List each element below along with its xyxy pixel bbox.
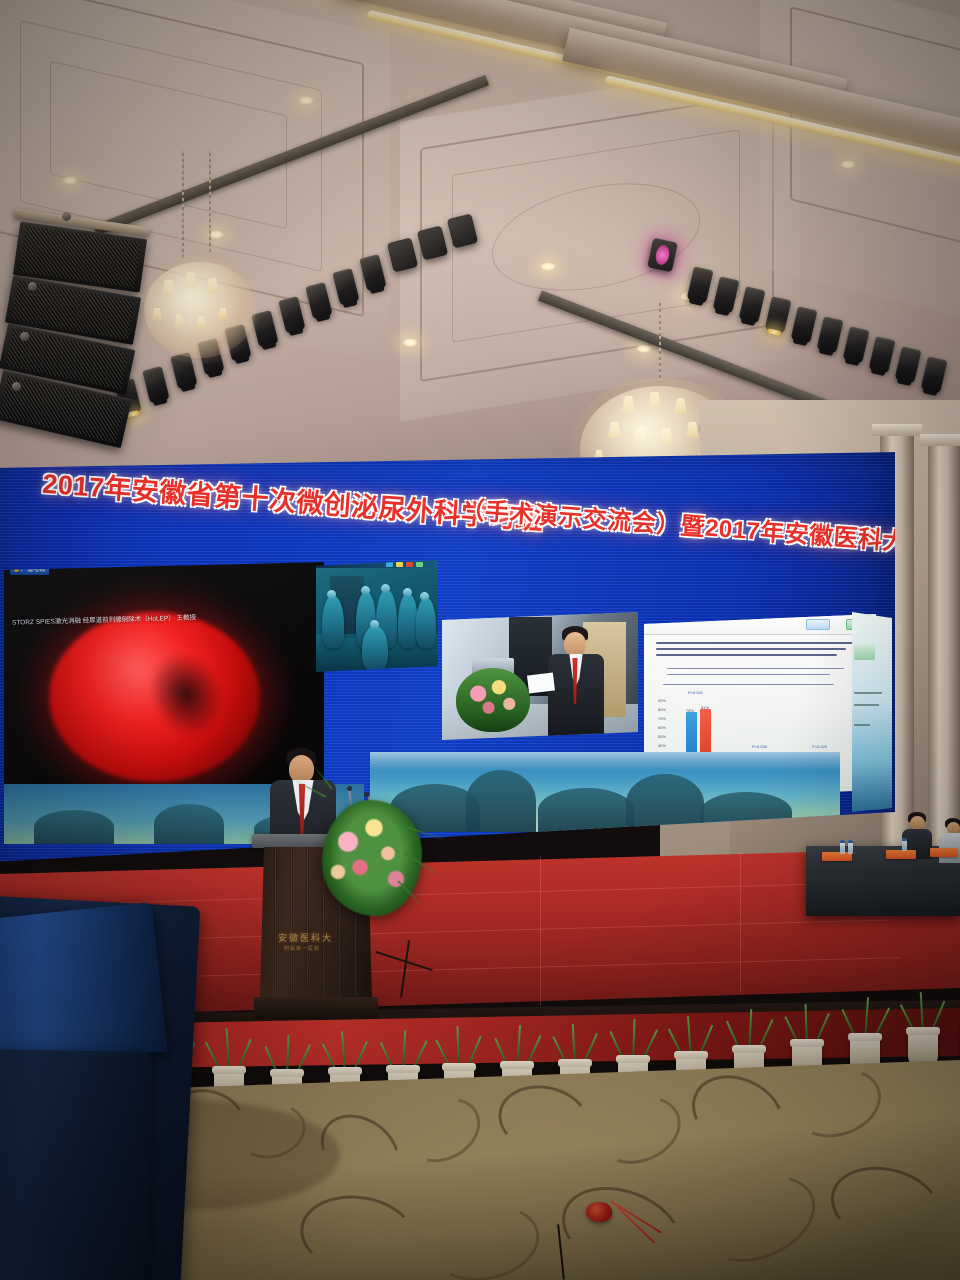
surgeon-head — [370, 620, 379, 629]
chandelier-chain — [182, 150, 184, 260]
scenic-hill — [154, 804, 224, 844]
conference-hall-photo: 2017年安徽省第十次微创泌尿外科学习班 （手术演示交流会）暨2017年安徽医科… — [0, 0, 960, 1280]
water-bottle — [848, 840, 853, 854]
chart-ytick: 70% — [658, 716, 666, 721]
stage-floor-seam — [740, 852, 741, 992]
podium-bouquet — [322, 800, 422, 916]
potted-plant — [908, 988, 938, 1066]
water-bottle — [902, 838, 907, 851]
chart-bar-value: 81% — [701, 705, 709, 710]
surgeon-figure — [416, 598, 436, 648]
microphone-head — [364, 792, 369, 797]
speech-notes — [527, 672, 555, 693]
bottle-cap — [902, 838, 907, 841]
rigging-shackle — [62, 212, 71, 221]
podium-base — [254, 997, 378, 1019]
right-slide-sliver-panel[interactable] — [852, 612, 892, 812]
recessed-downlight — [298, 96, 314, 105]
slide-text-line — [854, 692, 882, 694]
chart-group-annotation: P=0.530 — [752, 744, 767, 749]
recessed-downlight — [62, 176, 78, 185]
bottle-cap — [840, 840, 845, 843]
podium-flute — [274, 847, 277, 999]
or-status-chip — [416, 562, 423, 567]
scenic-hill — [538, 788, 634, 832]
recessed-downlight — [402, 338, 418, 347]
audience-chair — [0, 902, 167, 1072]
potted-plant — [850, 994, 880, 1072]
slide-heading-text — [656, 654, 837, 656]
slide-body-text — [667, 674, 829, 675]
bottle-cap — [848, 840, 853, 843]
chart-ytick: 80% — [658, 707, 666, 712]
or-status-chip — [396, 562, 403, 567]
plant-pot — [908, 1030, 938, 1066]
column-capital — [920, 434, 960, 446]
slide-heading-text — [656, 642, 856, 644]
surgeon-head — [420, 592, 429, 601]
scenic-hill — [34, 810, 114, 844]
chandelier-crystals — [144, 262, 256, 358]
column-capital — [872, 424, 922, 436]
surgeon-figure — [398, 594, 418, 648]
sponsor-logo-icon — [854, 644, 875, 660]
surgeon-head — [381, 584, 390, 593]
name-placard — [930, 848, 958, 857]
wall-column — [928, 440, 960, 870]
scenic-mist — [370, 752, 840, 770]
chart-group-annotation: P<0.001 — [688, 690, 703, 695]
table-skirt — [806, 875, 960, 916]
podium-front-text: 安徽医科大 — [278, 931, 333, 944]
recessed-downlight — [540, 262, 556, 271]
rigging-shackle — [28, 282, 37, 291]
recessed-downlight — [840, 160, 856, 169]
name-placard — [886, 850, 916, 859]
podium-flute — [290, 847, 293, 999]
rigging-shackle — [20, 332, 29, 341]
chart-ytick: 90% — [658, 698, 666, 703]
or-status-chip — [406, 562, 413, 567]
podium-front-subtext: 附属第一医院 — [284, 945, 320, 952]
surgeon-head — [403, 588, 412, 597]
chart-group-annotation: P=0.026 — [812, 744, 827, 749]
sponsor-logo-icon — [806, 619, 830, 630]
chandelier — [140, 150, 260, 370]
podium-flower-arrangement — [456, 668, 530, 732]
chandelier-chain — [209, 150, 211, 254]
surgeon-figure — [362, 626, 388, 670]
microphone-head — [347, 786, 352, 791]
podium-flute — [306, 847, 309, 999]
speaker-head — [564, 632, 586, 656]
water-bottle — [840, 840, 845, 854]
chart-bar-value: 78% — [686, 708, 694, 713]
surgeon-head — [327, 590, 336, 599]
slide-text-line — [854, 704, 879, 706]
led-video-wall: 2017年安徽省第十次微创泌尿外科学习班 （手术演示交流会）暨2017年安徽医科… — [0, 452, 895, 862]
slide-heading-text — [656, 648, 846, 650]
slide-body-text — [663, 684, 835, 685]
chart-ytick: 50% — [658, 734, 666, 739]
speaker-figure — [546, 626, 608, 740]
slide-text-line — [854, 724, 870, 726]
slide-body-text — [667, 668, 843, 669]
stage-floor-seam — [540, 856, 541, 1006]
presenter-head — [289, 755, 314, 783]
live-speaker-video-panel[interactable] — [442, 612, 638, 740]
chandelier-chain — [659, 300, 661, 382]
red-ribbon-knot — [586, 1202, 612, 1222]
chart-ytick: 60% — [658, 725, 666, 730]
rigging-shackle — [12, 382, 21, 391]
scenic-hill — [466, 770, 536, 832]
chart-ytick: 40% — [658, 743, 666, 748]
operating-room-video-panel[interactable] — [316, 560, 438, 672]
surgeon-figure — [322, 596, 344, 648]
surgeon-head — [361, 586, 370, 595]
audience-chair — [0, 1048, 152, 1280]
